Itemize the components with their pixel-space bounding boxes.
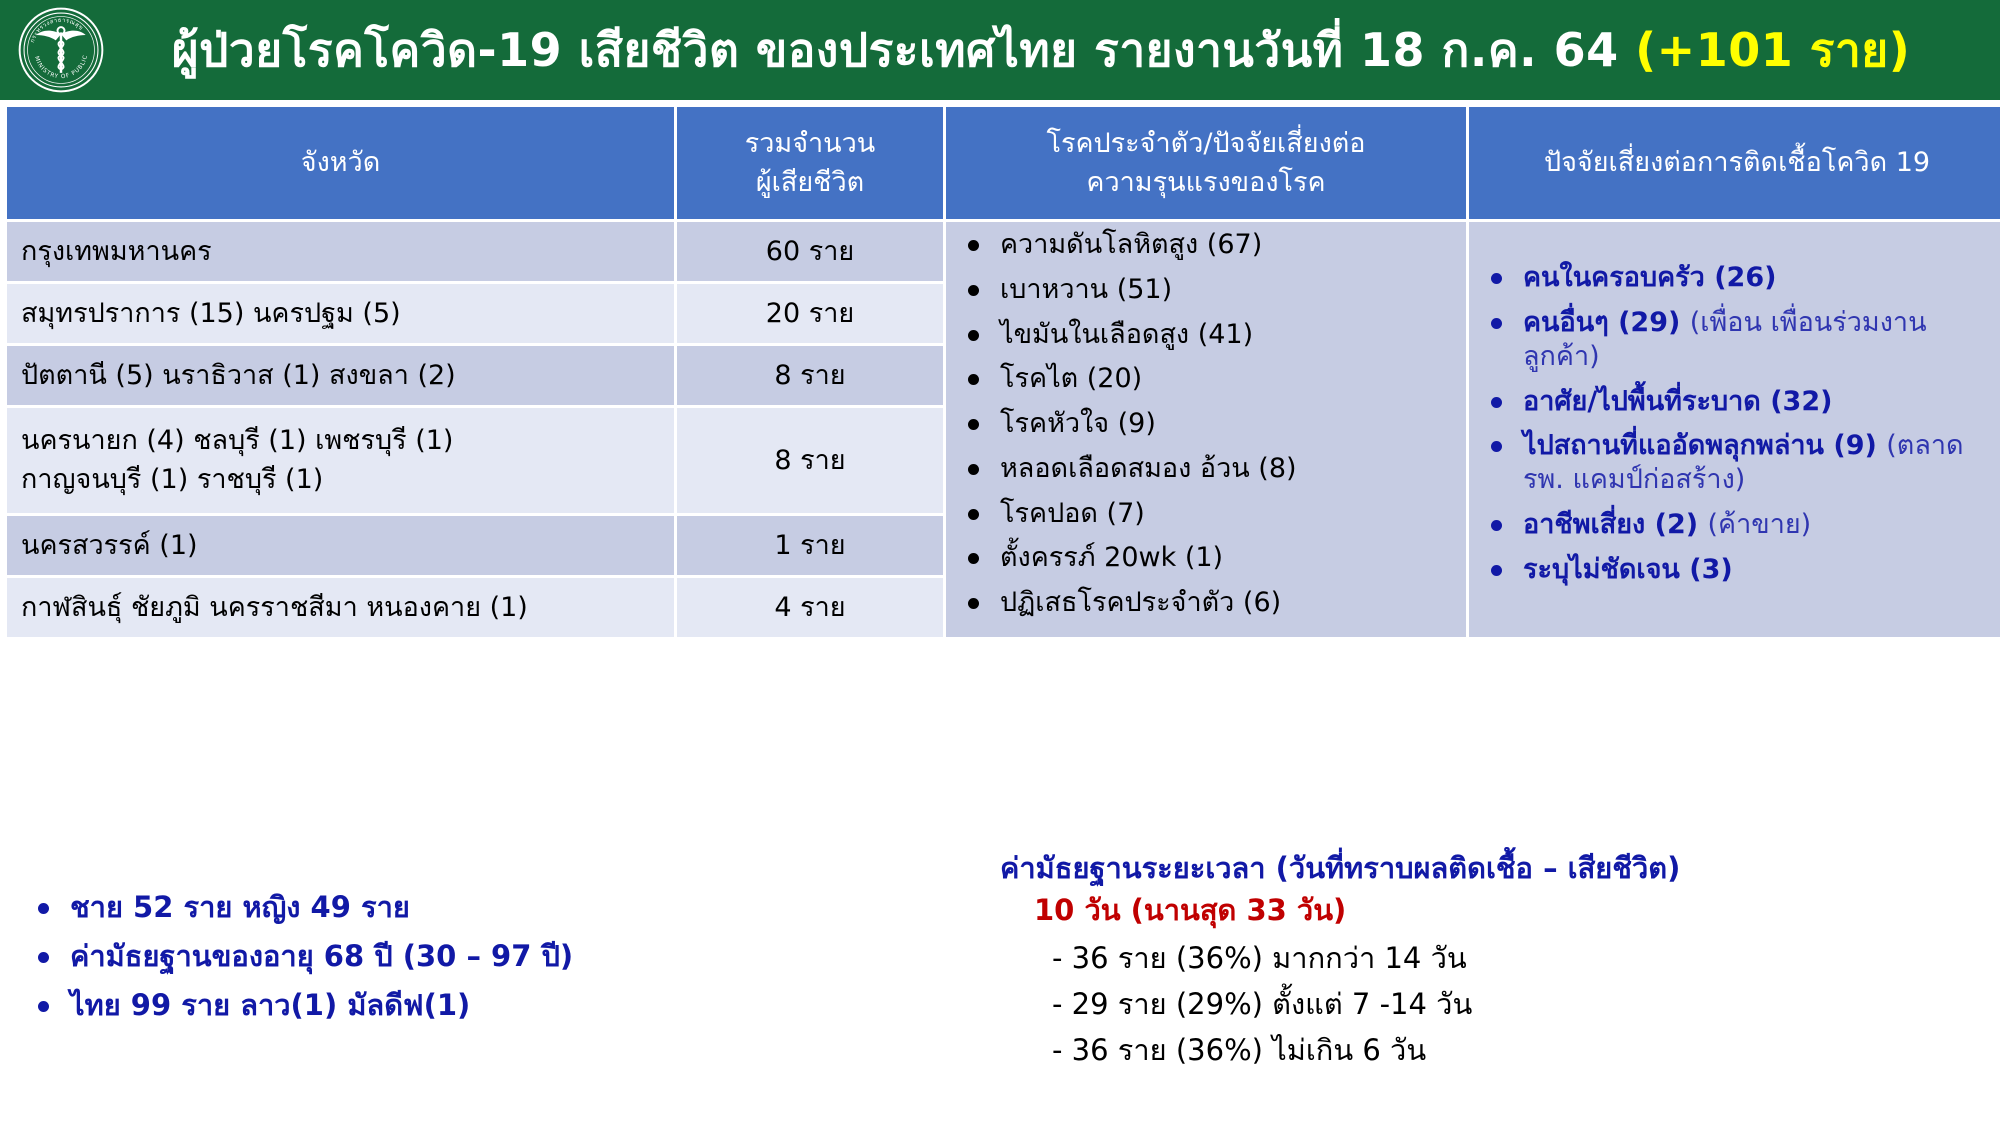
table-row: กรุงเทพมหานคร 60 ราย ความดันโลหิตสูง (67…	[7, 222, 2000, 281]
infection-risk-cell: คนในครอบครัว (26) คนอื่นๆ (29) (เพื่อน เ…	[1469, 222, 2000, 637]
column-header-total-deaths: รวมจำนวน ผู้เสียชีวิต	[677, 107, 943, 219]
list-item-sub: (ค้าขาย)	[1707, 509, 1811, 540]
column-header-infection-risk: ปัจจัยเสี่ยงต่อการติดเชื้อโควิด 19	[1469, 107, 2000, 219]
list-item: โรคปอด (7)	[960, 497, 1452, 531]
duration-summary: ค่ามัธยฐานระยะเวลา (วันที่ทราบผลติดเชื้อ…	[1000, 850, 1980, 1075]
list-item: โรคหัวใจ (9)	[960, 407, 1452, 441]
list-item: เบาหวาน (51)	[960, 273, 1452, 307]
death-count-cell: 8 ราย	[677, 346, 943, 405]
list-item-main: อาชีพเสี่ยง (2)	[1523, 509, 1707, 540]
ministry-logo: กระทรวงสาธารณสุข MINISTRY OF PUBLIC HEAL…	[0, 0, 122, 100]
province-line: กาญจนบุรี (1) ราชบุรี (1)	[21, 460, 660, 499]
list-item: ระบุไม่ชัดเจน (3)	[1483, 553, 1991, 587]
province-cell: สมุทรปราการ (15) นครปฐม (5)	[7, 284, 674, 343]
province-cell: กรุงเทพมหานคร	[7, 222, 674, 281]
list-item: คนอื่นๆ (29) (เพื่อน เพื่อนร่วมงาน ลูกค้…	[1483, 306, 1991, 374]
column-header-province: จังหวัด	[7, 107, 674, 219]
list-item: ตั้งครรภ์ 20wk (1)	[960, 541, 1452, 575]
infection-risk-list: คนในครอบครัว (26) คนอื่นๆ (29) (เพื่อน เ…	[1483, 261, 1991, 586]
column-header-comorbidity: โรคประจำตัว/ปัจจัยเสี่ยงต่อ ความรุนแรงขอ…	[946, 107, 1466, 219]
death-count-cell: 4 ราย	[677, 578, 943, 637]
table-header-row: จังหวัด รวมจำนวน ผู้เสียชีวิต โรคประจำตั…	[7, 107, 2000, 219]
duration-detail-line: - 36 ราย (36%) ไม่เกิน 6 วัน	[1052, 1029, 1980, 1071]
province-line: นครนายก (4) ชลบุรี (1) เพชรบุรี (1)	[21, 421, 660, 460]
deaths-table: จังหวัด รวมจำนวน ผู้เสียชีวิต โรคประจำตั…	[4, 104, 2000, 640]
column-header-comorbidity-line1: โรคประจำตัว/ปัจจัยเสี่ยงต่อ	[1046, 128, 1365, 159]
page-title: ผู้ป่วยโรคโควิด-19 เสียชีวิต ของประเทศไท…	[122, 26, 2000, 74]
list-item-main: อาศัย/ไปพื้นที่ระบาด (32)	[1523, 386, 1832, 417]
list-item: อาชีพเสี่ยง (2) (ค้าขาย)	[1483, 508, 1991, 542]
page-title-highlight: (+101 ราย)	[1635, 23, 1910, 77]
demographics-list: ชาย 52 ราย หญิง 49 ราย ค่ามัธยฐานของอายุ…	[30, 890, 670, 1022]
column-header-total-deaths-line2: ผู้เสียชีวิต	[756, 167, 864, 198]
list-item: คนในครอบครัว (26)	[1483, 261, 1991, 295]
list-item: ปฏิเสธโรคประจำตัว (6)	[960, 586, 1452, 620]
list-item: ค่ามัธยฐานของอายุ 68 ปี (30 – 97 ปี)	[30, 939, 670, 974]
column-header-total-deaths-line1: รวมจำนวน	[745, 128, 876, 159]
death-count-cell: 1 ราย	[677, 516, 943, 575]
list-item: ชาย 52 ราย หญิง 49 ราย	[30, 890, 670, 925]
duration-median-value: 10 วัน (นานสุด 33 วัน)	[1034, 892, 1980, 928]
list-item: อาศัย/ไปพื้นที่ระบาด (32)	[1483, 385, 1991, 419]
duration-detail-line: - 29 ราย (29%) ตั้งแต่ 7 -14 วัน	[1052, 983, 1980, 1025]
deaths-table-container: จังหวัด รวมจำนวน ผู้เสียชีวิต โรคประจำตั…	[4, 104, 1996, 640]
duration-detail-line: - 36 ราย (36%) มากกว่า 14 วัน	[1052, 937, 1980, 979]
province-cell: ปัตตานี (5) นราธิวาส (1) สงขลา (2)	[7, 346, 674, 405]
column-header-comorbidity-line2: ความรุนแรงของโรค	[1086, 167, 1325, 198]
death-count-cell: 60 ราย	[677, 222, 943, 281]
comorbidity-list: ความดันโลหิตสูง (67) เบาหวาน (51) ไขมันใ…	[960, 228, 1452, 620]
province-cell: กาฬสินธุ์ ชัยภูมิ นครราชสีมา หนองคาย (1)	[7, 578, 674, 637]
list-item-main: คนในครอบครัว (26)	[1523, 262, 1776, 293]
list-item-main: ไปสถานที่แออัดพลุกพล่าน (9)	[1523, 430, 1886, 461]
list-item-main: คนอื่นๆ (29)	[1523, 307, 1690, 338]
list-item-main: ระบุไม่ชัดเจน (3)	[1523, 554, 1733, 585]
list-item: ความดันโลหิตสูง (67)	[960, 228, 1452, 262]
duration-summary-title: ค่ามัธยฐานระยะเวลา (วันที่ทราบผลติดเชื้อ…	[1000, 850, 1980, 886]
list-item: ไปสถานที่แออัดพลุกพล่าน (9) (ตลาด รพ. แค…	[1483, 429, 1991, 497]
province-cell: นครนายก (4) ชลบุรี (1) เพชรบุรี (1) กาญจ…	[7, 408, 674, 512]
list-item: ไขมันในเลือดสูง (41)	[960, 318, 1452, 352]
caduceus-icon: กระทรวงสาธารณสุข MINISTRY OF PUBLIC HEAL…	[17, 6, 105, 94]
death-count-cell: 8 ราย	[677, 408, 943, 512]
province-cell: นครสวรรค์ (1)	[7, 516, 674, 575]
list-item: ไทย 99 ราย ลาว(1) มัลดีฟ(1)	[30, 988, 670, 1023]
death-count-cell: 20 ราย	[677, 284, 943, 343]
page-title-main: ผู้ป่วยโรคโควิด-19 เสียชีวิต ของประเทศไท…	[172, 23, 1635, 77]
list-item: หลอดเลือดสมอง อ้วน (8)	[960, 452, 1452, 486]
list-item: โรคไต (20)	[960, 362, 1452, 396]
header-banner: กระทรวงสาธารณสุข MINISTRY OF PUBLIC HEAL…	[0, 0, 2000, 100]
comorbidity-cell: ความดันโลหิตสูง (67) เบาหวาน (51) ไขมันใ…	[946, 222, 1466, 637]
demographics-summary: ชาย 52 ราย หญิง 49 ราย ค่ามัธยฐานของอายุ…	[30, 890, 670, 1036]
